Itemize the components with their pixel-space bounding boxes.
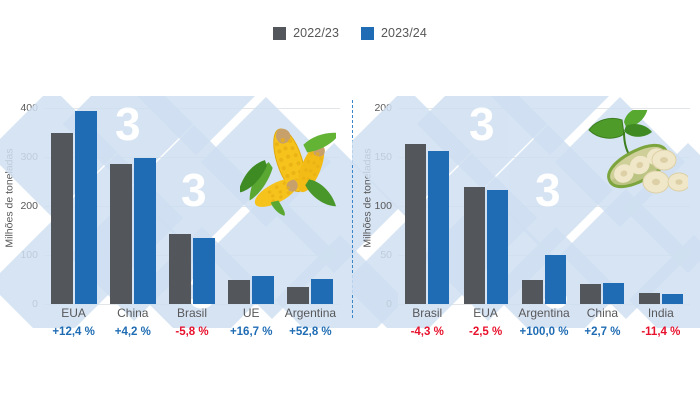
x-tick-cell: China <box>573 304 631 320</box>
chart-legend: 2022/232023/24 <box>0 26 700 40</box>
x-percent-cell: -2,5 % <box>456 320 514 338</box>
x-tick-cell: UE <box>222 304 281 320</box>
x-percent-cell: +16,7 % <box>222 320 281 338</box>
bar-brasil-2022-23[interactable] <box>405 144 426 304</box>
bar-group-china[interactable] <box>110 108 156 304</box>
x-percent-cell: +100,0 % <box>515 320 573 338</box>
x-axis-soybean: BrasilEUAArgentinaChinaIndia-4,3 %-2,5 %… <box>398 304 690 350</box>
x-tick-cell: India <box>632 304 690 320</box>
x-tick-label: Brasil <box>398 306 456 320</box>
chart-panel-soybean: Milhões de toneladas 050100150200333 Bra… <box>352 98 700 353</box>
y-axis-title-soybean-label: Milhões de toneladas <box>362 148 374 247</box>
bar-group-ue[interactable] <box>228 108 274 304</box>
legend-swatch-icon <box>273 27 286 40</box>
bar-group-argentina[interactable] <box>522 108 566 304</box>
bar-china-2022-23[interactable] <box>110 164 132 304</box>
x-percent-cell: -11,4 % <box>632 320 690 338</box>
bar-group-china[interactable] <box>580 108 624 304</box>
bar-eua-2022-23[interactable] <box>464 187 485 304</box>
bar-eua-2023-24[interactable] <box>75 111 97 304</box>
bar-argentina-2023-24[interactable] <box>311 279 333 304</box>
legend-label: 2022/23 <box>293 26 339 40</box>
bar-groups <box>398 108 690 304</box>
bar-brasil-2023-24[interactable] <box>428 151 449 304</box>
percent-change-india: -11,4 % <box>632 326 690 338</box>
x-tick-label: Brasil <box>162 306 221 320</box>
bar-china-2023-24[interactable] <box>603 283 624 304</box>
percent-change-brasil: -4,3 % <box>398 326 456 338</box>
y-tick-label: 100 <box>20 249 38 261</box>
y-axis-title-corn-label: Milhões de toneladas <box>4 148 16 247</box>
x-percent-cell: +12,4 % <box>44 320 103 338</box>
bar-argentina-2022-23[interactable] <box>287 287 309 304</box>
percent-change-eua: +12,4 % <box>44 326 103 338</box>
legend-label: 2023/24 <box>381 26 427 40</box>
x-tick-cell: EUA <box>44 304 103 320</box>
y-tick-label: 300 <box>20 151 38 163</box>
legend-2023-24[interactable]: 2023/24 <box>361 26 427 40</box>
bar-argentina-2023-24[interactable] <box>545 255 566 304</box>
bar-group-eua[interactable] <box>464 108 508 304</box>
bar-group-brasil[interactable] <box>405 108 449 304</box>
x-percent-cell: -5,8 % <box>162 320 221 338</box>
bar-brasil-2023-24[interactable] <box>193 238 215 304</box>
bar-group-india[interactable] <box>639 108 683 304</box>
bar-group-argentina[interactable] <box>287 108 333 304</box>
y-tick-label: 50 <box>380 249 392 261</box>
plot-area-corn: 0100200300400333 <box>44 108 340 304</box>
bar-ue-2022-23[interactable] <box>228 280 250 305</box>
x-tick-cell: Argentina <box>515 304 573 320</box>
legend-swatch-icon <box>361 27 374 40</box>
percent-change-china: +4,2 % <box>103 326 162 338</box>
percent-change-brasil: -5,8 % <box>162 326 221 338</box>
x-percent-change-labels: +12,4 %+4,2 %-5,8 %+16,7 %+52,8 % <box>44 320 340 338</box>
legend-2022-23[interactable]: 2022/23 <box>273 26 339 40</box>
x-percent-cell: +2,7 % <box>573 320 631 338</box>
x-percent-cell: +4,2 % <box>103 320 162 338</box>
bar-china-2022-23[interactable] <box>580 284 601 304</box>
percent-change-argentina: +100,0 % <box>515 326 573 338</box>
x-percent-cell: -4,3 % <box>398 320 456 338</box>
x-axis-corn: EUAChinaBrasilUEArgentina+12,4 %+4,2 %-5… <box>44 304 340 350</box>
x-tick-label: China <box>573 306 631 320</box>
x-tick-label: Argentina <box>281 306 340 320</box>
x-tick-label: Argentina <box>515 306 573 320</box>
x-tick-cell: Brasil <box>162 304 221 320</box>
y-tick-label: 0 <box>32 298 38 310</box>
bar-groups <box>44 108 340 304</box>
bar-argentina-2022-23[interactable] <box>522 280 543 305</box>
x-percent-cell: +52,8 % <box>281 320 340 338</box>
x-tick-label: China <box>103 306 162 320</box>
x-tick-cell: Brasil <box>398 304 456 320</box>
bar-brasil-2022-23[interactable] <box>169 234 191 304</box>
x-tick-label: UE <box>222 306 281 320</box>
x-tick-cell: China <box>103 304 162 320</box>
bar-group-eua[interactable] <box>51 108 97 304</box>
x-tick-label: EUA <box>44 306 103 320</box>
bar-india-2023-24[interactable] <box>662 294 683 304</box>
plot-area-soybean: 050100150200333 <box>398 108 690 304</box>
percent-change-argentina: +52,8 % <box>281 326 340 338</box>
bar-china-2023-24[interactable] <box>134 158 156 304</box>
bar-india-2022-23[interactable] <box>639 293 660 304</box>
y-tick-label: 100 <box>374 200 392 212</box>
bar-group-brasil[interactable] <box>169 108 215 304</box>
bar-ue-2023-24[interactable] <box>252 276 274 304</box>
x-tick-label: India <box>632 306 690 320</box>
chart-panel-corn: Milhões de toneladas 0100200300400333 EU… <box>0 98 352 353</box>
x-tick-cell: Argentina <box>281 304 340 320</box>
y-tick-label: 200 <box>20 200 38 212</box>
x-tick-cell: EUA <box>456 304 514 320</box>
x-category-labels: BrasilEUAArgentinaChinaIndia <box>398 304 690 320</box>
y-axis-title-corn: Milhões de toneladas <box>2 98 18 298</box>
bar-eua-2022-23[interactable] <box>51 133 73 305</box>
percent-change-eua: -2,5 % <box>456 326 514 338</box>
y-tick-label: 400 <box>20 102 38 114</box>
y-axis-title-soybean: Milhões de toneladas <box>360 98 376 298</box>
y-tick-label: 150 <box>374 151 392 163</box>
y-tick-label: 200 <box>374 102 392 114</box>
bar-eua-2023-24[interactable] <box>487 190 508 304</box>
x-tick-label: EUA <box>456 306 514 320</box>
charts-container: Milhões de toneladas 0100200300400333 EU… <box>0 98 700 353</box>
y-tick-label: 0 <box>386 298 392 310</box>
percent-change-china: +2,7 % <box>573 326 631 338</box>
x-percent-change-labels: -4,3 %-2,5 %+100,0 %+2,7 %-11,4 % <box>398 320 690 338</box>
x-category-labels: EUAChinaBrasilUEArgentina <box>44 304 340 320</box>
percent-change-ue: +16,7 % <box>222 326 281 338</box>
